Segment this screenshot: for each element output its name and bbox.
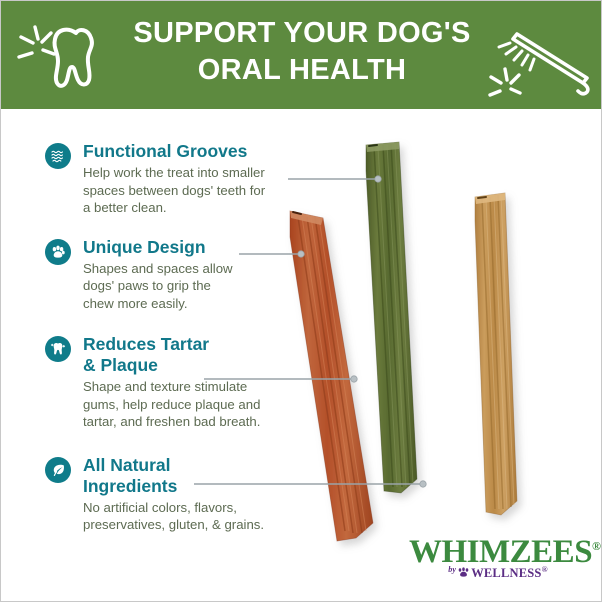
paw-print-icon [45, 239, 71, 265]
feature-item-reduces-tartar-plaque: Reduces Tartar & Plaque Shape and textur… [45, 334, 315, 431]
feature-description: Shapes and spaces allow dogs' paws to gr… [83, 260, 315, 313]
logo-byline-mark: ® [542, 565, 548, 574]
logo-byline: byWELLNESS® [409, 563, 587, 581]
feature-item-functional-grooves: Functional Grooves Help work the treat i… [45, 141, 315, 217]
feature-title: Unique Design [83, 237, 315, 258]
wellness-paw-icon [457, 567, 470, 581]
waves-grooves-icon [45, 143, 71, 169]
product-infographic: SUPPORT YOUR DOG'S ORAL HEALTH [0, 0, 602, 602]
feature-item-all-natural-ingredients: All Natural Ingredients No artificial co… [45, 455, 315, 534]
leaf-icon [45, 457, 71, 483]
logo-byline-prefix: by [448, 565, 456, 574]
logo-byline-text: WELLNESS [471, 566, 541, 580]
feature-list: Functional Grooves Help work the treat i… [45, 141, 315, 534]
feature-description: No artificial colors, flavors, preservat… [83, 499, 315, 534]
feature-description: Shape and texture stimulate gums, help r… [83, 378, 315, 431]
tan-chew-stick [475, 193, 517, 515]
feature-description: Help work the treat into smaller spaces … [83, 164, 315, 217]
feature-title: All Natural Ingredients [83, 455, 315, 497]
feature-title: Reduces Tartar & Plaque [83, 334, 315, 376]
feature-item-unique-design: Unique Design Shapes and spaces allow do… [45, 237, 315, 313]
brand-logo: WHIMZEES® byWELLNESS® [409, 529, 587, 589]
tooth-sparkle-icon [45, 336, 71, 362]
logo-registered-mark: ® [592, 539, 600, 553]
green-chew-stick [366, 142, 417, 493]
feature-title: Functional Grooves [83, 141, 315, 162]
